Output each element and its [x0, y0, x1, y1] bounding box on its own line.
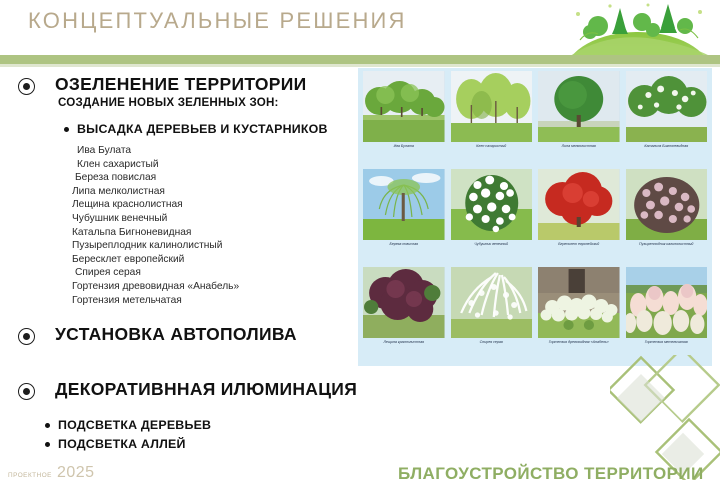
dot-bullet-icon [64, 127, 69, 132]
photo-caption: Ива Булата [394, 144, 414, 149]
corner-decoration [610, 355, 720, 480]
photo-dark-round-tree [538, 71, 620, 142]
photo-caption: Катальпа Бигноневидная [644, 144, 688, 149]
list-item: Чубушник венечный [72, 212, 239, 226]
photo-caption: Береза повислая [389, 242, 418, 247]
list-item: Ива Булата [72, 144, 239, 158]
photo-caption: Пузыреплодник калинолистный [639, 242, 693, 247]
section-heading: ОЗЕЛЕНЕНИЕ ТЕРРИТОРИИ [55, 74, 307, 95]
footer-year: 2025 [57, 464, 95, 482]
photo-cell: Катальпа Бигноневидная [626, 71, 708, 167]
list-item: Гортензия метельчатая [72, 294, 239, 308]
photo-weeping-birch [363, 169, 445, 240]
photo-cell: Липа мелколистная [538, 71, 620, 167]
ring-bullet-icon [18, 78, 35, 95]
photo-cell: Ива Булата [363, 71, 445, 167]
page-title: КОНЦЕПТУАЛЬНЫЕ РЕШЕНИЯ [28, 8, 407, 34]
illumination-item-trees: ПОДСВЕТКА ДЕРЕВЬЕВ [45, 418, 211, 432]
photo-caption: Бересклет европейский [558, 242, 599, 247]
photo-caption: Липа мелколистная [562, 144, 596, 149]
list-item: Липа мелколистная [72, 185, 239, 199]
header-accent-band-secondary [0, 64, 720, 67]
photo-round-shrub-tree [363, 71, 445, 142]
footer-left: ПРОЕКТНОЕ 2025 [8, 464, 95, 482]
photo-pink-hydrangea [626, 267, 708, 338]
photo-caption: Лещина краснолистная [383, 340, 424, 345]
list-item: Клен сахаристый [72, 158, 239, 172]
photo-cell: Пузыреплодник калинолистный [626, 169, 708, 265]
content-column: ОЗЕЛЕНЕНИЕ ТЕРРИТОРИИ СОЗДАНИЕ НОВЫХ ЗЕЛ… [0, 72, 358, 452]
section-subheading: СОЗДАНИЕ НОВЫХ ЗЕЛЕННЫХ ЗОН: [58, 96, 279, 109]
list-item: Катальпа Бигноневидная [72, 226, 239, 240]
dot-bullet-icon [45, 423, 50, 428]
list-item: Гортензия древовидная «Анабель» [72, 280, 239, 294]
subsection-planting: ВЫСАДКА ДЕРЕВЬЕВ И КУСТАРНИКОВ [64, 122, 328, 136]
illumination-item-alleys: ПОДСВЕТКА АЛЛЕЙ [45, 437, 186, 451]
photo-cell: Чубушник венечный [451, 169, 533, 265]
item-label: ПОДСВЕТКА ДЕРЕВЬЕВ [58, 418, 211, 432]
photo-cell: Гортензия метельчатая [626, 267, 708, 363]
photo-white-hydrangea [538, 267, 620, 338]
list-item: Береза повислая [72, 171, 239, 185]
photo-pink-bloom-shrub [626, 169, 708, 240]
ring-bullet-icon [18, 383, 35, 400]
photo-white-flower-shrub [451, 169, 533, 240]
ring-bullet-icon [18, 328, 35, 345]
photo-white-bloom-tree [626, 71, 708, 142]
eco-illustration [550, 0, 720, 56]
section-heading: ДЕКОРАТИВННАЯ ИЛЮМИНАЦИЯ [55, 379, 357, 400]
footer-title: БЛАГОУСТРОЙСТВО ТЕРРИТОРИИ [398, 464, 704, 484]
photo-caption: Гортензия метельчатая [645, 340, 688, 345]
photo-white-spirea [451, 267, 533, 338]
list-item: Бересклет европейский [72, 253, 239, 267]
photo-caption: Клен сахаристый [476, 144, 506, 149]
subsection-label: ВЫСАДКА ДЕРЕВЬЕВ И КУСТАРНИКОВ [77, 122, 328, 136]
list-item: Спирея серая [72, 266, 239, 280]
photo-cell: Бересклет европейский [538, 169, 620, 265]
photo-panel: Ива Булата Клен сахаристый [358, 68, 712, 366]
photo-cell: Клен сахаристый [451, 71, 533, 167]
dot-bullet-icon [45, 442, 50, 447]
photo-cell: Гортензия древовидная «Анабель» [538, 267, 620, 363]
photo-cell: Лещина краснолистная [363, 267, 445, 363]
list-item: Лещина краснолистная [72, 198, 239, 212]
photo-light-green-tree [451, 71, 533, 142]
photo-red-shrub [538, 169, 620, 240]
photo-purple-shrub [363, 267, 445, 338]
photo-grid: Ива Булата Клен сахаристый [363, 71, 707, 363]
photo-caption: Гортензия древовидная «Анабель» [549, 340, 609, 345]
footer-label: ПРОЕКТНОЕ [8, 472, 52, 482]
list-item: Пузыреплодник калинолистный [72, 239, 239, 253]
photo-caption: Чубушник венечный [474, 242, 508, 247]
plant-list: Ива Булата Клен сахаристый Береза повисл… [72, 144, 239, 307]
section-heading: УСТАНОВКА АВТОПОЛИВА [55, 324, 297, 345]
header-accent-band [0, 55, 720, 64]
photo-cell: Береза повислая [363, 169, 445, 265]
photo-caption: Спирея серая [480, 340, 503, 345]
photo-cell: Спирея серая [451, 267, 533, 363]
item-label: ПОДСВЕТКА АЛЛЕЙ [58, 437, 186, 451]
